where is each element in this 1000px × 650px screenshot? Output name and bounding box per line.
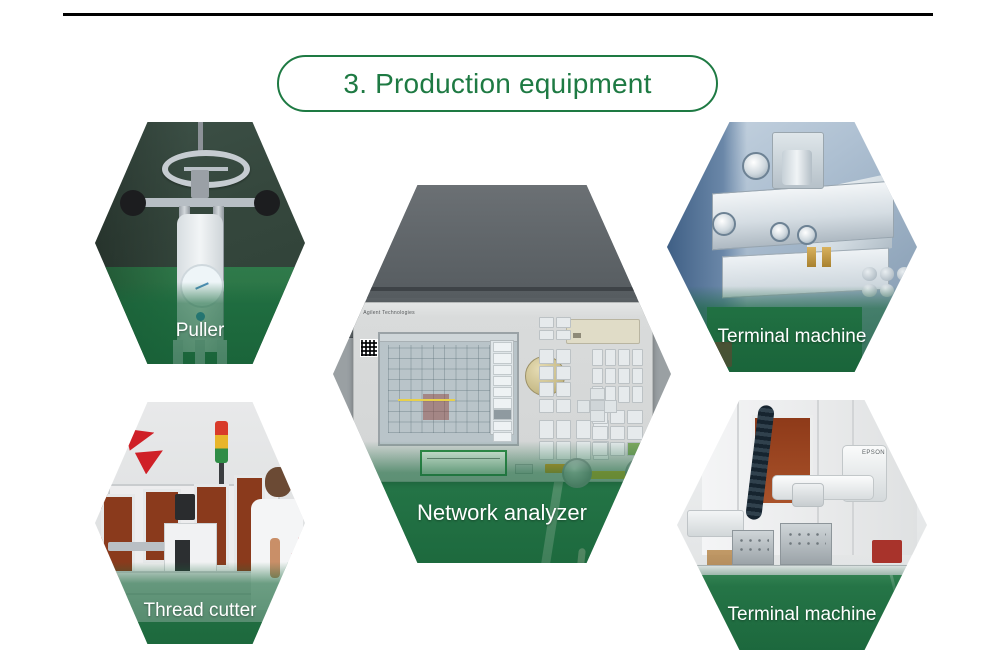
puller-knob-left [120,190,146,216]
header-rule [63,13,933,16]
tm-top-ring-a [742,152,770,180]
na-keypad-group-1 [539,317,572,340]
na-keypad-group-3 [539,420,572,459]
tm-bottom-tray-2 [780,523,832,565]
na-instrument-chassis: Agilent Technologies [353,302,652,482]
tm-top-ring-b [712,212,736,236]
tm-bottom-tray-1 [732,530,774,565]
tc-andon-light [215,421,228,463]
gallery-cell-terminal-machine-top[interactable]: Terminal machine [667,122,917,372]
tc-cutting-mechanism [164,523,216,578]
na-display [378,332,519,446]
puller-hub [191,170,209,198]
tc-window-a [101,494,134,577]
na-reflection [423,394,449,420]
na-softkey-column [490,340,514,435]
gallery-cell-network-analyzer[interactable]: Agilent Technologies [333,185,671,563]
tc-hmi-screen [175,494,195,520]
robot-brand-label: EPSON [862,450,885,456]
puller-crossarm [131,198,269,207]
na-navigation-pad [577,388,617,422]
tm-top-ring-d [797,225,817,245]
na-upper-shelf [333,185,671,298]
gallery-cell-terminal-machine-bottom[interactable]: EPSON Terminal machine [677,400,927,650]
caption-network-analyzer: Network analyzer [333,463,671,563]
caption-terminal-machine-top: Terminal machine [667,302,917,372]
page-title: 3. Production equipment [343,70,651,98]
page-root: 3. Production equipment Puller [0,0,1000,650]
tm-top-ring-c [770,222,790,242]
tm-bottom-red-component [872,540,902,563]
caption-thread-cutter: Thread cutter [95,578,305,644]
na-keypad-group-2 [539,349,572,413]
na-shelf-edge [347,287,658,291]
caption-puller: Puller [95,298,305,364]
tm-bottom-robot-joint [792,483,824,507]
gallery-cell-puller[interactable]: Puller [95,122,305,364]
na-brand-label: Agilent Technologies [363,310,415,316]
qr-code-icon [360,339,378,357]
na-floppy-drive [566,319,639,344]
puller-knob-right [254,190,280,216]
na-trace-plot [388,345,489,433]
tc-operator-head [265,467,292,497]
tm-top-brass-terminal-2 [822,247,831,267]
tm-top-cylinder [782,150,812,185]
gallery-cell-thread-cutter[interactable]: Thread cutter [95,402,305,644]
tm-top-brass-terminal-1 [807,247,816,267]
tc-operator-arm [270,538,280,578]
caption-terminal-machine-bottom: Terminal machine [677,580,927,650]
na-trace-line [398,399,455,401]
section-title-pill: 3. Production equipment [277,55,718,112]
tm-top-bolt-row [862,267,912,297]
